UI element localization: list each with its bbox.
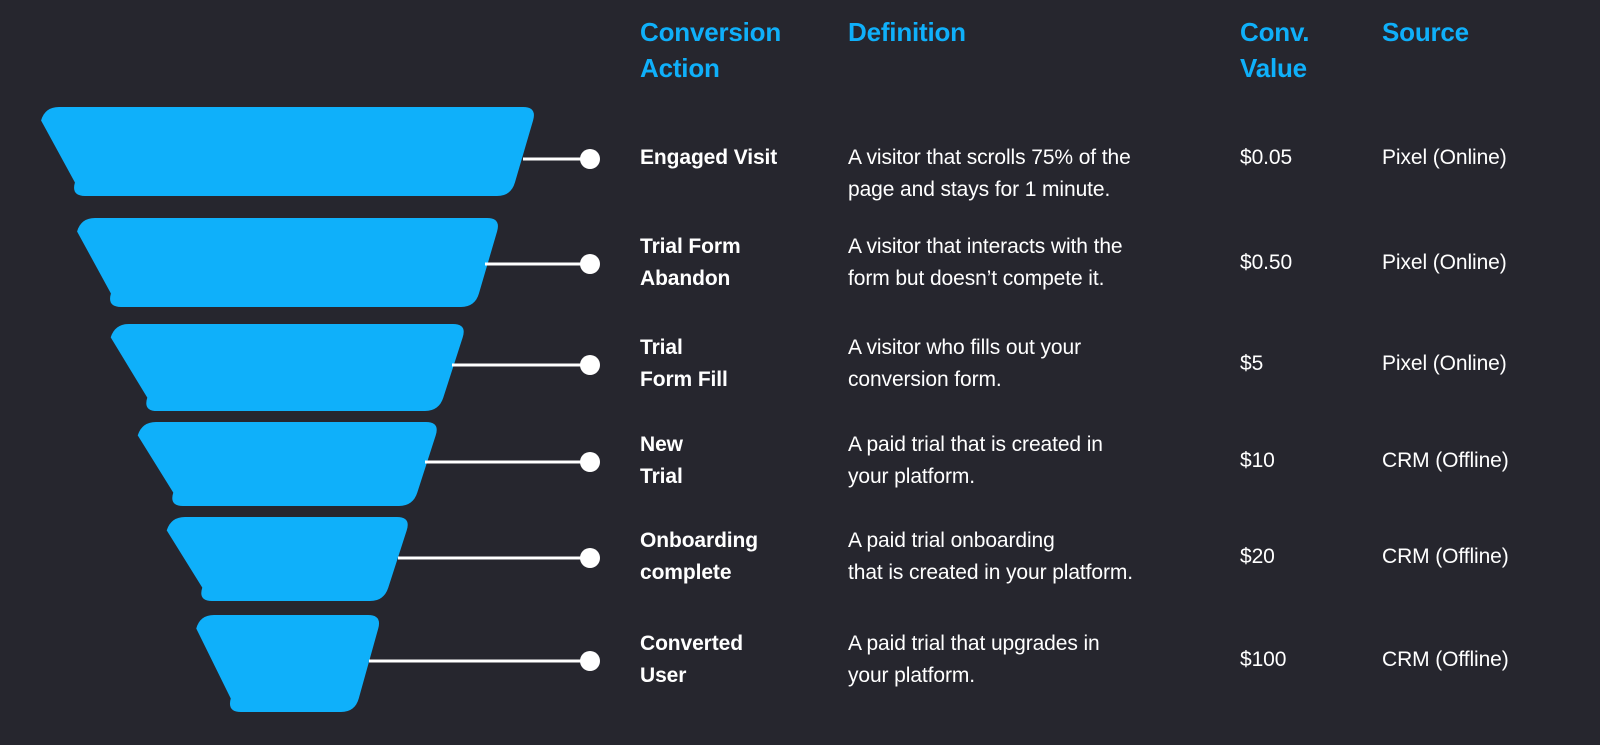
funnel-infographic: Conversion Action Definition Conv. Value…: [0, 0, 1600, 745]
conv-value-cell: $5: [1240, 332, 1382, 380]
connector-dot: [580, 355, 600, 375]
action-cell: Engaged Visit: [640, 142, 848, 174]
source-cell: CRM (Offline): [1382, 525, 1600, 573]
funnel-stage-group: [41, 107, 534, 712]
definition-text: A paid trial that is created in your pla…: [848, 429, 1232, 493]
action-text: Converted User: [640, 628, 840, 692]
connector-dot: [580, 149, 600, 169]
header-label-source: Source: [1382, 14, 1600, 50]
header-label-definition: Definition: [848, 14, 1232, 50]
action-cell: Onboarding complete: [640, 525, 848, 589]
connector-dot: [580, 548, 600, 568]
definition-cell: A paid trial that is created in your pla…: [848, 429, 1240, 493]
conv-value-cell: $20: [1240, 525, 1382, 573]
definition-cell: A paid trial onboarding that is created …: [848, 525, 1240, 589]
conv-value-cell: $0.05: [1240, 142, 1382, 174]
table-row[interactable]: New TrialA paid trial that is created in…: [640, 429, 1600, 493]
connector-dot: [580, 651, 600, 671]
action-text: Onboarding complete: [640, 525, 840, 589]
action-cell: Trial Form Fill: [640, 332, 848, 396]
source-cell: Pixel (Online): [1382, 142, 1600, 174]
source-text: Pixel (Online): [1382, 348, 1600, 380]
action-cell: Converted User: [640, 628, 848, 692]
funnel-stage[interactable]: [111, 324, 464, 411]
source-text: CRM (Offline): [1382, 541, 1600, 573]
action-text: Trial Form Abandon: [640, 231, 840, 295]
table-row[interactable]: Onboarding completeA paid trial onboardi…: [640, 525, 1600, 589]
action-cell: New Trial: [640, 429, 848, 493]
source-text: Pixel (Online): [1382, 247, 1600, 279]
source-cell: Pixel (Online): [1382, 231, 1600, 279]
conv-value-cell: $100: [1240, 628, 1382, 676]
definition-cell: A visitor that interacts with the form b…: [848, 231, 1240, 295]
source-text: CRM (Offline): [1382, 445, 1600, 477]
header-cell-definition: Definition: [848, 14, 1240, 50]
conv-value-text: $5: [1240, 348, 1374, 380]
header-cell-conversion-action: Conversion Action: [640, 14, 848, 86]
table-row[interactable]: Trial Form FillA visitor who fills out y…: [640, 332, 1600, 396]
funnel-svg: [0, 0, 620, 745]
conv-value-text: $100: [1240, 644, 1374, 676]
definition-cell: A visitor who fills out your conversion …: [848, 332, 1240, 396]
funnel-stage[interactable]: [196, 615, 379, 712]
table-header-row: Conversion Action Definition Conv. Value…: [640, 14, 1600, 86]
action-text: Engaged Visit: [640, 142, 840, 174]
conv-value-text: $20: [1240, 541, 1374, 573]
funnel-stage[interactable]: [77, 218, 498, 307]
funnel-stage[interactable]: [167, 517, 408, 601]
header-cell-conv-value: Conv. Value: [1240, 14, 1382, 86]
conv-value-cell: $0.50: [1240, 231, 1382, 279]
action-text: New Trial: [640, 429, 840, 493]
action-cell: Trial Form Abandon: [640, 231, 848, 295]
conv-value-text: $10: [1240, 445, 1374, 477]
conv-value-cell: $10: [1240, 429, 1382, 477]
source-text: Pixel (Online): [1382, 142, 1600, 174]
header-label-conv-value: Conv. Value: [1240, 14, 1374, 86]
table-row[interactable]: Engaged VisitA visitor that scrolls 75% …: [640, 142, 1600, 206]
connector-dot: [580, 452, 600, 472]
definition-text: A visitor that interacts with the form b…: [848, 231, 1232, 295]
definition-cell: A visitor that scrolls 75% of the page a…: [848, 142, 1240, 206]
table-row[interactable]: Converted UserA paid trial that upgrades…: [640, 628, 1600, 692]
source-cell: CRM (Offline): [1382, 429, 1600, 477]
table-row[interactable]: Trial Form AbandonA visitor that interac…: [640, 231, 1600, 295]
conversion-table: Conversion Action Definition Conv. Value…: [640, 0, 1600, 745]
conv-value-text: $0.05: [1240, 142, 1374, 174]
conv-value-text: $0.50: [1240, 247, 1374, 279]
funnel-stage[interactable]: [138, 422, 437, 506]
header-label-conversion-action: Conversion Action: [640, 14, 840, 86]
source-cell: Pixel (Online): [1382, 332, 1600, 380]
source-text: CRM (Offline): [1382, 644, 1600, 676]
definition-text: A paid trial that upgrades in your platf…: [848, 628, 1232, 692]
definition-text: A paid trial onboarding that is created …: [848, 525, 1232, 589]
funnel-stage[interactable]: [41, 107, 534, 196]
definition-text: A visitor who fills out your conversion …: [848, 332, 1232, 396]
header-cell-source: Source: [1382, 14, 1600, 50]
source-cell: CRM (Offline): [1382, 628, 1600, 676]
connector-dot: [580, 254, 600, 274]
action-text: Trial Form Fill: [640, 332, 840, 396]
definition-cell: A paid trial that upgrades in your platf…: [848, 628, 1240, 692]
definition-text: A visitor that scrolls 75% of the page a…: [848, 142, 1232, 206]
funnel-chart: [0, 0, 620, 745]
